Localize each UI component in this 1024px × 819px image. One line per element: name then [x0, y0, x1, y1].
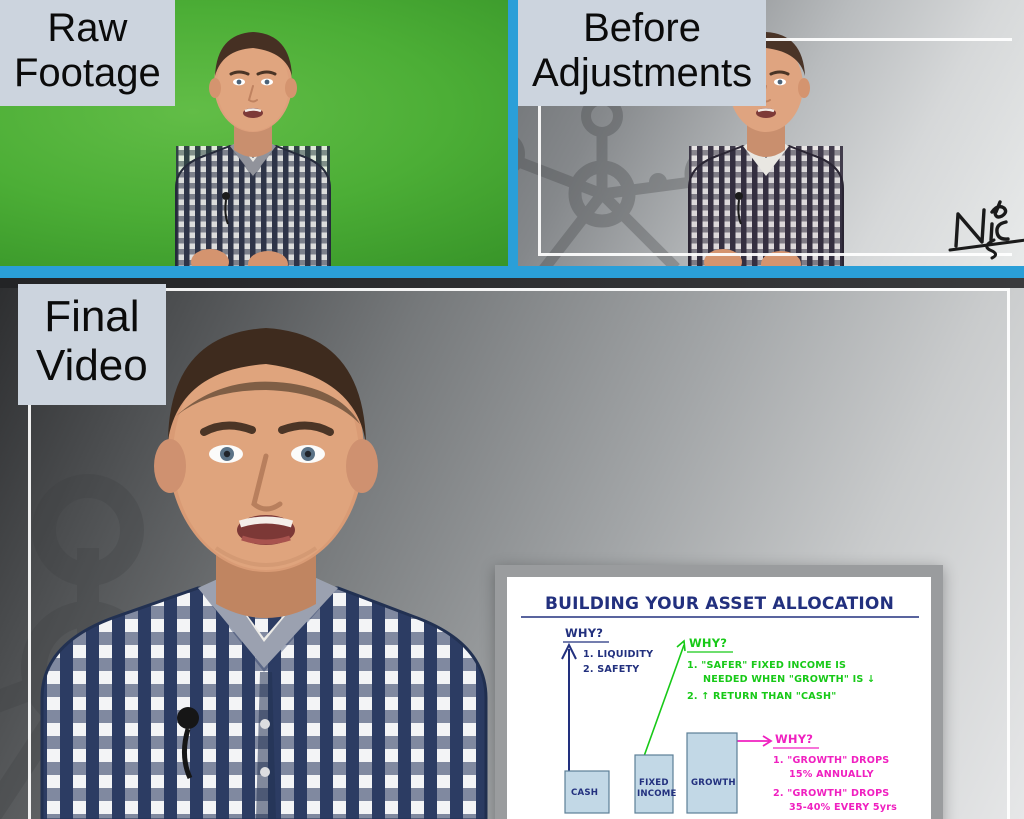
bar-fixed-income: FIXED INCOME [635, 755, 677, 813]
label-final-video-line2: Video [36, 341, 148, 390]
green-note-item-3: 2. ↑ RETURN THAN "CASH" [687, 691, 836, 702]
label-raw-footage: Raw Footage [0, 0, 175, 106]
panel-divider-horizontal [0, 266, 1024, 278]
blue-arrow [562, 645, 576, 773]
bar-label-growth: GROWTH [691, 778, 736, 788]
label-final-video: Final Video [18, 284, 166, 405]
pink-note-item-1: 1. "GROWTH" DROPS [773, 755, 889, 766]
green-note-item-2: NEEDED WHEN "GROWTH" IS ↓ [703, 674, 875, 685]
bar-cash: CASH [565, 771, 609, 813]
bar-label-cash: CASH [571, 788, 598, 798]
blue-note-item-1: 1. LIQUIDITY [583, 649, 654, 660]
comparison-figure: Raw Footage [0, 0, 1024, 819]
pink-note-item-4: 35-40% EVERY 5yrs [789, 802, 897, 813]
pink-note-item-3: 2. "GROWTH" DROPS [773, 788, 889, 799]
label-final-video-line1: Final [36, 292, 148, 341]
blue-note-item-2: 2. SAFETY [583, 664, 640, 675]
label-before-adjustments-line1: Before [532, 6, 752, 51]
pink-note-heading: WHY? [775, 732, 813, 746]
bar-label-fixed: FIXED [639, 778, 669, 788]
panel-divider-vertical [508, 0, 518, 266]
whiteboard-title: BUILDING YOUR ASSET ALLOCATION [545, 594, 894, 614]
bar-growth: GROWTH [687, 733, 737, 813]
bar-label-income: INCOME [637, 789, 677, 799]
label-before-adjustments-line2: Adjustments [532, 51, 752, 96]
whiteboard-surface: BUILDING YOUR ASSET ALLOCATION WHY? 1. L… [507, 577, 931, 819]
green-note-heading: WHY? [689, 636, 727, 650]
blue-note-heading: WHY? [565, 626, 603, 640]
green-note-item-1: 1. "SAFER" FIXED INCOME IS [687, 660, 846, 671]
signature-nic-before [948, 198, 1024, 260]
label-raw-footage-line1: Raw [14, 6, 161, 51]
whiteboard: BUILDING YOUR ASSET ALLOCATION WHY? 1. L… [495, 565, 943, 819]
pink-note-item-2: 15% ANNUALLY [789, 769, 875, 780]
label-raw-footage-line2: Footage [14, 51, 161, 96]
panel-raw-footage: Raw Footage [0, 0, 508, 266]
label-before-adjustments: Before Adjustments [518, 0, 766, 106]
